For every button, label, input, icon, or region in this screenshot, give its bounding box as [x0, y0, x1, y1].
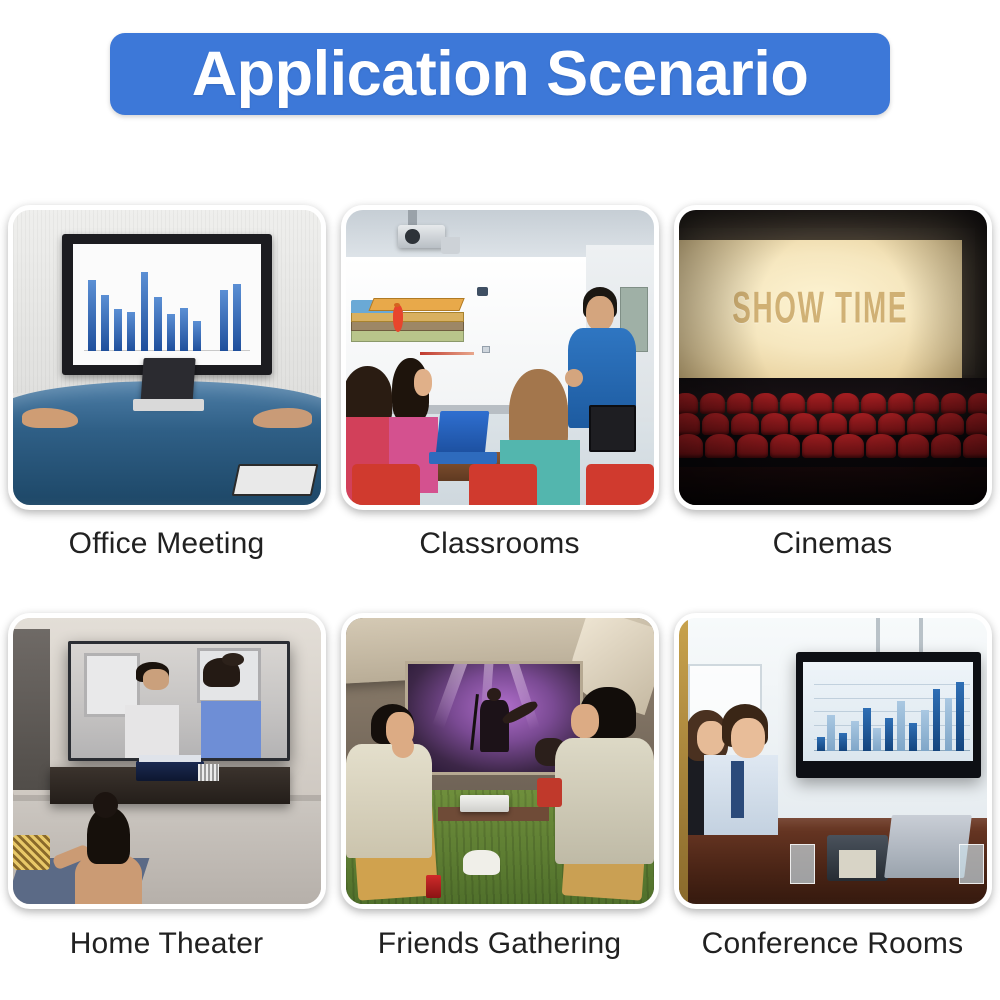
classroom-photo	[346, 210, 654, 505]
friends-gathering-photo	[346, 618, 654, 904]
scenario-label-classrooms: Classrooms	[333, 527, 666, 561]
scenario-label-conference-rooms: Conference Rooms	[666, 927, 999, 961]
chart-bar	[101, 295, 109, 351]
friend-left	[346, 744, 432, 858]
monitor-chart-bar	[817, 737, 825, 751]
monitor-chart-bar	[921, 710, 929, 750]
classroom-chair	[586, 464, 654, 505]
student-laptop	[436, 411, 490, 455]
friend-right-face	[571, 704, 599, 738]
scenario-tile-office-meeting[interactable]	[8, 205, 326, 510]
wall-display	[62, 234, 271, 376]
portable-projector	[460, 795, 509, 812]
guitarist-head	[487, 688, 501, 701]
media-player	[136, 761, 204, 781]
cinema-vignette	[679, 210, 987, 505]
scenario-cell-cinemas: SHOW TIME	[666, 197, 999, 587]
scenario-grid: Office Meeting	[0, 197, 1000, 997]
magma-plume	[393, 305, 403, 332]
student-two-face	[414, 369, 432, 396]
drink-cup	[537, 778, 562, 807]
sneaker	[463, 850, 500, 876]
scenario-tile-cinemas[interactable]: SHOW TIME	[674, 205, 992, 510]
monitor-chart-bar	[885, 718, 893, 750]
whiteboard-thumbnail-icon	[482, 346, 491, 354]
volcano-vent	[394, 303, 400, 307]
table-laptop-base	[133, 399, 204, 411]
student-laptop-base	[429, 452, 497, 464]
home-screen	[68, 641, 290, 761]
monitor-chart-bar	[945, 698, 953, 751]
chart-bar	[167, 314, 175, 351]
scenario-row-top: Office Meeting	[0, 197, 1000, 587]
floor-cushion	[13, 835, 50, 869]
friend-left-hand	[392, 735, 414, 758]
conference-phone-keypad	[839, 850, 876, 879]
office-meeting-photo	[13, 210, 321, 505]
scenario-label-cinemas: Cinemas	[666, 527, 999, 561]
attendee-hands-right	[253, 408, 312, 429]
geology-diagram	[351, 296, 464, 344]
chart-bar	[180, 308, 188, 351]
table-laptop	[141, 358, 197, 405]
table-document	[231, 464, 318, 496]
chart-bar	[154, 297, 162, 351]
necktie	[731, 761, 743, 818]
teacher-hand	[565, 369, 583, 387]
chart-bar	[114, 309, 122, 350]
chart-bar	[193, 321, 201, 350]
chart-bar	[141, 272, 149, 351]
scenario-cell-friends-gathering: Friends Gathering	[333, 605, 666, 995]
scenario-label-friends-gathering: Friends Gathering	[333, 927, 666, 961]
viewer-hair-bun	[93, 792, 118, 818]
classroom-chair	[352, 464, 420, 505]
home-theater-photo	[13, 618, 321, 904]
display-bar-chart	[73, 244, 261, 366]
teacher-head	[586, 296, 614, 331]
chart-bar	[233, 284, 241, 351]
scenario-cell-classrooms: Classrooms	[333, 197, 666, 587]
projector-arm	[441, 237, 459, 255]
monitor-chart-bar	[933, 689, 941, 751]
whiteboard-toolbar-icon	[477, 287, 488, 296]
monitor-chart-bar	[863, 708, 871, 751]
water-glass	[790, 844, 815, 884]
scenario-cell-home-theater: Home Theater	[0, 605, 333, 995]
conference-room-photo	[679, 618, 987, 904]
wall-side-panel	[13, 629, 50, 789]
media-player-top	[139, 755, 201, 762]
cinema-photo: SHOW TIME	[679, 210, 987, 505]
monitor-chart-bar	[839, 733, 847, 751]
colleague-man-face	[731, 718, 765, 758]
chart-bar	[220, 290, 228, 351]
page-title: Application Scenario	[192, 43, 809, 106]
monitor-chart-bar	[909, 723, 917, 750]
monitor-chart-bar	[897, 701, 905, 751]
scenario-label-home-theater: Home Theater	[0, 927, 333, 961]
monitor-chart-bar	[956, 682, 964, 751]
scenario-tile-conference-rooms[interactable]	[674, 613, 992, 909]
whiteboard-progress-bar	[420, 352, 474, 355]
monitor-chart-bar	[827, 715, 835, 750]
classroom-chair	[469, 464, 537, 505]
friend-right	[555, 738, 654, 864]
speaker	[198, 764, 220, 781]
monitor-chart-bar	[873, 728, 881, 751]
water-glass	[959, 844, 984, 884]
application-scenario-page: Application Scenario	[0, 0, 1000, 1000]
monitor-bar-chart	[803, 662, 973, 760]
scenario-tile-classrooms[interactable]	[341, 205, 659, 510]
scenario-cell-conference-rooms: Conference Rooms	[666, 605, 999, 995]
conference-monitor	[796, 652, 981, 778]
scenario-cell-office-meeting: Office Meeting	[0, 197, 333, 587]
projector-lens-icon	[405, 229, 420, 244]
scenario-tile-friends-gathering[interactable]	[341, 613, 659, 909]
page-title-banner: Application Scenario	[110, 33, 890, 115]
student-tablet	[589, 405, 635, 452]
scenario-row-bottom: Home Theater	[0, 605, 1000, 995]
guitarist	[480, 700, 509, 752]
soda-can	[426, 875, 441, 898]
scenario-tile-home-theater[interactable]	[8, 613, 326, 909]
monitor-chart-bar	[851, 721, 859, 750]
chart-bar	[127, 312, 135, 351]
scenario-label-office-meeting: Office Meeting	[0, 527, 333, 561]
screen-content	[71, 644, 287, 758]
chart-bar	[88, 280, 96, 351]
colleague-woman-face	[697, 721, 725, 755]
left-edge-strip	[679, 618, 688, 904]
